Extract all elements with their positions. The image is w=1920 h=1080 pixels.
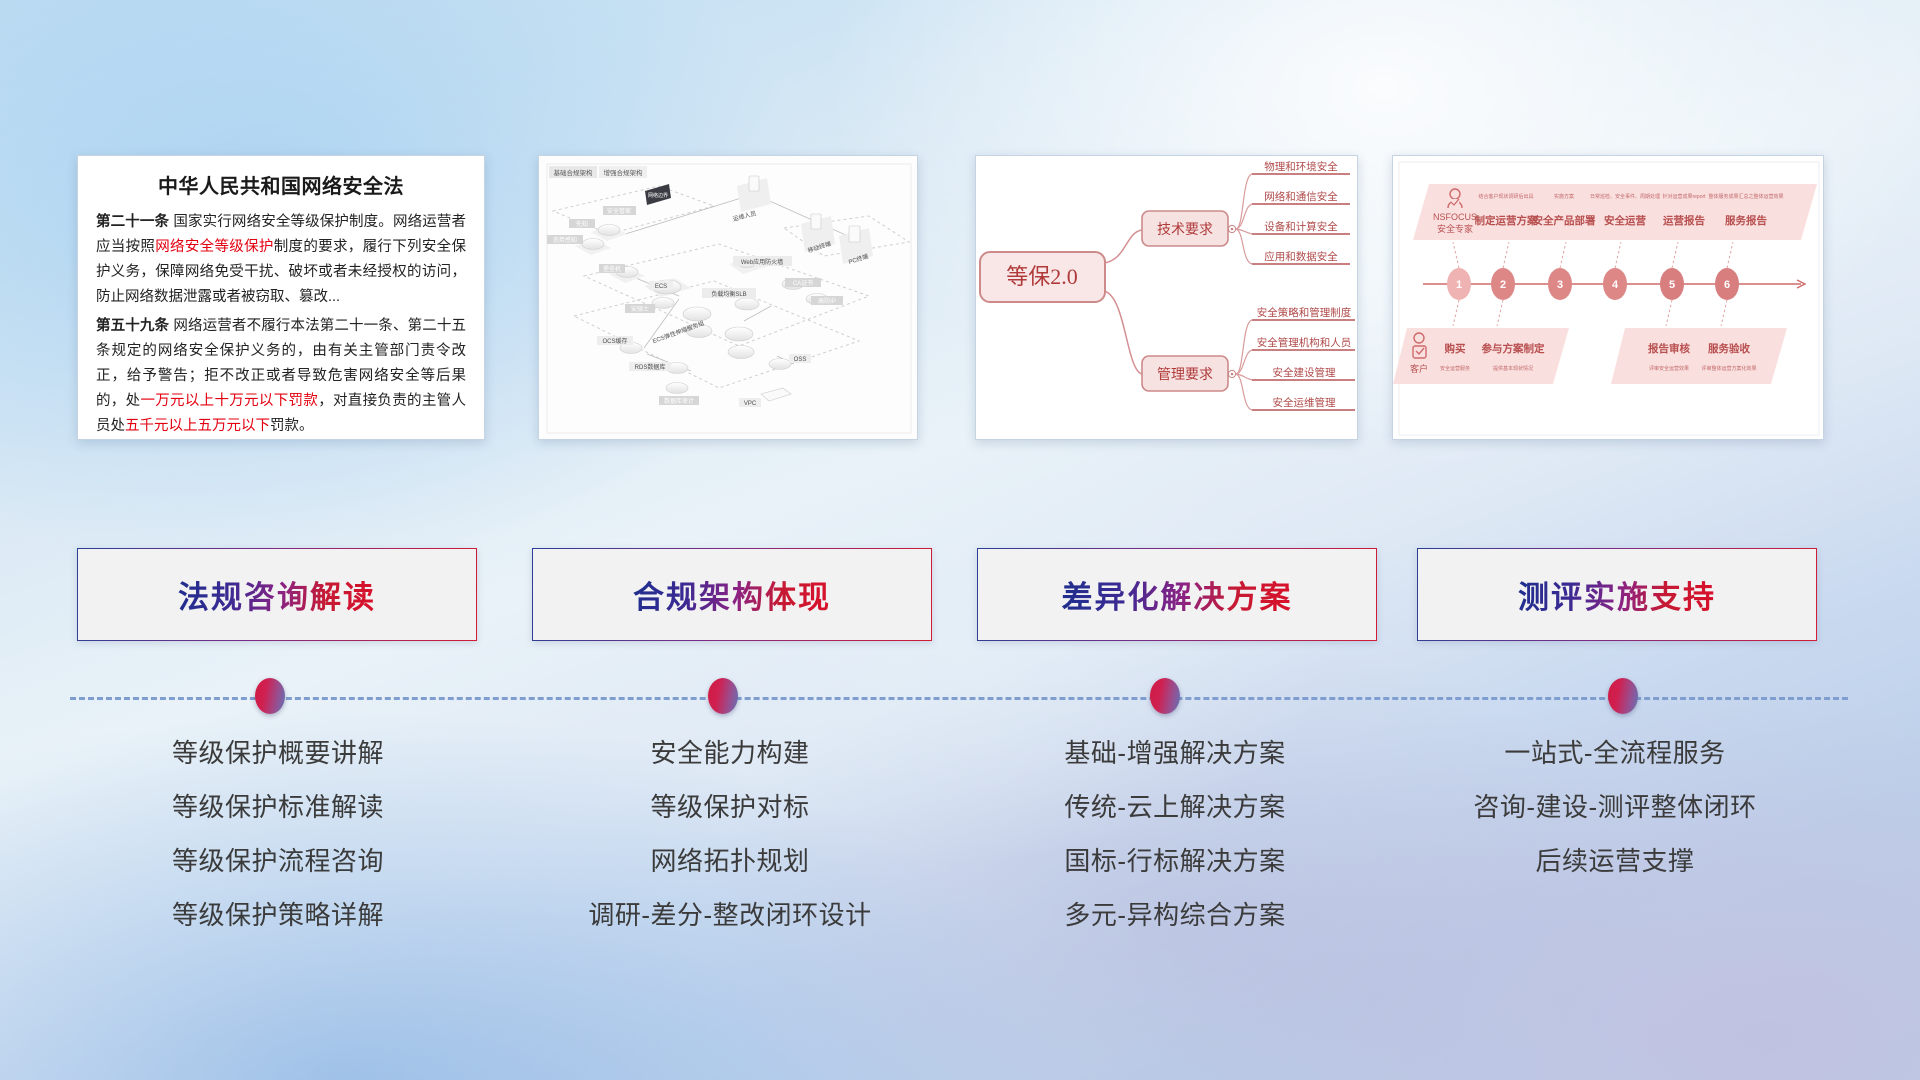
svg-text:高防IP: 高防IP	[818, 297, 836, 305]
svg-text:安全管家: 安全管家	[607, 207, 631, 215]
svg-text:VPC: VPC	[744, 401, 757, 407]
svg-text:制定运营方案: 制定运营方案	[1475, 214, 1538, 227]
svg-text:评审安全运营效果: 评审安全运营效果	[1649, 365, 1689, 372]
detail-column-2: 安全能力构建 等级保护对标 网络拓扑规划 调研-差分-整改闭环设计	[520, 740, 940, 956]
svg-text:网络边界: 网络边界	[648, 192, 668, 199]
svg-text:安全运营: 安全运营	[1604, 214, 1646, 227]
law-paragraph-21: 第二十一条 国家实行网络安全等级保护制度。网络运营者应当按照网络安全等级保护制度…	[96, 210, 466, 310]
svg-text:NSFOCUS: NSFOCUS	[1433, 212, 1477, 222]
section-label-3: 差异化解决方案	[1062, 572, 1293, 617]
svg-text:2: 2	[1500, 279, 1506, 291]
timeline-dot-4	[1608, 678, 1638, 714]
svg-text:1: 1	[1456, 279, 1462, 291]
law-title: 中华人民共和国网络安全法	[96, 170, 466, 199]
svg-text:物理和环境安全: 物理和环境安全	[1264, 160, 1338, 173]
list-item: 等级保护概要讲解	[68, 740, 488, 766]
svg-text:负载均衡SLB: 负载均衡SLB	[711, 290, 746, 298]
svg-text:基础合规架构: 基础合规架构	[554, 168, 594, 177]
svg-text:OCS缓存: OCS缓存	[602, 337, 627, 345]
mindmap-svg: 等保2.0 技术要求 物理	[976, 156, 1358, 440]
timeline-dot-2	[708, 678, 738, 714]
law-run: 罚款。	[270, 418, 314, 434]
svg-text:结合客户现状调研后出具: 结合客户现状调研后出具	[1478, 193, 1533, 200]
svg-text:实施方案: 实施方案	[1554, 193, 1574, 200]
section-label-4: 测评实施支持	[1518, 572, 1716, 617]
svg-text:先知: 先知	[576, 220, 588, 228]
section-box-1[interactable]: 法规咨询解读	[77, 548, 477, 641]
section-label-1: 法规咨询解读	[178, 572, 376, 617]
law-run-highlight: 五千元以上五万元以下	[125, 418, 270, 434]
nsfocus-svg: NSFOCUS 安全专家 客户	[1393, 156, 1824, 440]
list-item: 调研-差分-整改闭环设计	[520, 902, 940, 928]
svg-text:参与方案制定: 参与方案制定	[1482, 342, 1545, 355]
svg-text:3: 3	[1557, 279, 1563, 291]
nsfocus-timeline-diagram: NSFOCUS 安全专家 客户	[1393, 156, 1823, 439]
detail-column-4: 一站式-全流程服务 咨询-建设-测评整体闭环 后续运营支撑	[1405, 740, 1825, 902]
law-article-number: 第二十一条	[96, 214, 169, 230]
law-content: 中华人民共和国网络安全法 第二十一条 国家实行网络安全等级保护制度。网络运营者应…	[78, 156, 484, 440]
law-run-highlight: 一万元以上十万元以下罚款	[140, 393, 318, 409]
svg-text:管理要求: 管理要求	[1157, 367, 1213, 383]
list-item: 咨询-建设-测评整体闭环	[1405, 794, 1825, 820]
svg-text:安全建设管理: 安全建设管理	[1273, 366, 1336, 379]
section-label-2: 合规架构体现	[633, 572, 831, 617]
section-box-2[interactable]: 合规架构体现	[532, 548, 932, 641]
list-item: 网络拓扑规划	[520, 848, 940, 874]
list-item: 国标-行标解决方案	[965, 848, 1385, 874]
svg-text:运营报告: 运营报告	[1663, 214, 1705, 227]
timeline-dot-1	[255, 678, 285, 714]
svg-text:客户: 客户	[1410, 363, 1428, 374]
list-item: 多元-异构综合方案	[965, 902, 1385, 928]
section-box-3[interactable]: 差异化解决方案	[977, 548, 1377, 641]
svg-text:ECS: ECS	[655, 284, 667, 290]
detail-column-1: 等级保护概要讲解 等级保护标准解读 等级保护流程咨询 等级保护策略详解	[68, 740, 488, 956]
svg-text:态势感知: 态势感知	[553, 236, 577, 244]
timeline-dashed-line	[70, 697, 1848, 700]
law-run-highlight: 网络安全等级保护	[155, 239, 274, 255]
svg-text:安全运维管理: 安全运维管理	[1273, 396, 1336, 409]
list-item: 传统-云上解决方案	[965, 794, 1385, 820]
list-item: 等级保护策略详解	[68, 902, 488, 928]
thumbnail-card-law[interactable]: 中华人民共和国网络安全法 第二十一条 国家实行网络安全等级保护制度。网络运营者应…	[77, 155, 485, 440]
svg-text:6: 6	[1724, 279, 1730, 291]
svg-text:网络和通信安全: 网络和通信安全	[1264, 190, 1338, 203]
svg-text:服务验收: 服务验收	[1708, 342, 1750, 355]
svg-text:服务报告: 服务报告	[1725, 214, 1767, 227]
thumbnail-card-nsfocus[interactable]: NSFOCUS 安全专家 客户	[1392, 155, 1824, 440]
svg-text:OSS: OSS	[794, 357, 807, 363]
mindmap-diagram: 等保2.0 技术要求 物理	[976, 156, 1357, 439]
list-item: 等级保护流程咨询	[68, 848, 488, 874]
svg-text:应用和数据安全: 应用和数据安全	[1264, 250, 1338, 263]
thumbnail-card-architecture[interactable]: 基础合规架构 增强合规架构 网络边界	[538, 155, 918, 440]
svg-text:堡垒机: 堡垒机	[603, 265, 621, 273]
svg-text:Web应用防火墙: Web应用防火墙	[741, 258, 783, 266]
svg-text:报告审核: 报告审核	[1648, 342, 1690, 355]
svg-text:增强合规架构: 增强合规架构	[604, 168, 644, 177]
svg-text:等保2.0: 等保2.0	[1006, 264, 1078, 289]
list-item: 基础-增强解决方案	[965, 740, 1385, 766]
list-item: 一站式-全流程服务	[1405, 740, 1825, 766]
svg-text:RDS数据库: RDS数据库	[635, 363, 666, 371]
svg-text:CA证书: CA证书	[793, 279, 813, 287]
list-item: 后续运营支撑	[1405, 848, 1825, 874]
svg-text:4: 4	[1612, 279, 1619, 291]
section-box-4[interactable]: 测评实施支持	[1417, 548, 1817, 641]
svg-text:评审整体运营方案化效果: 评审整体运营方案化效果	[1701, 365, 1756, 372]
svg-text:安骑士: 安骑士	[631, 305, 649, 313]
svg-text:安全运营服务: 安全运营服务	[1440, 365, 1470, 372]
thumbnail-card-mindmap[interactable]: 等保2.0 技术要求 物理	[975, 155, 1358, 440]
svg-text:5: 5	[1669, 279, 1675, 291]
law-paragraph-59: 第五十九条 网络运营者不履行本法第二十一条、第二十五条规定的网络安全保护义务的，…	[96, 314, 466, 439]
detail-column-3: 基础-增强解决方案 传统-云上解决方案 国标-行标解决方案 多元-异构综合方案	[965, 740, 1385, 956]
architecture-diagram: 基础合规架构 增强合规架构 网络边界	[539, 156, 917, 439]
list-item: 等级保护对标	[520, 794, 940, 820]
svg-text:提供基本现状情况: 提供基本现状情况	[1493, 365, 1533, 372]
timeline-dot-3	[1150, 678, 1180, 714]
svg-text:安全专家: 安全专家	[1437, 223, 1473, 234]
svg-text:整体服务成果汇总之整体运营效果: 整体服务成果汇总之整体运营效果	[1708, 193, 1783, 200]
svg-text:安全产品部署: 安全产品部署	[1533, 214, 1596, 227]
law-article-number: 第五十九条	[96, 318, 169, 334]
svg-text:技术要求: 技术要求	[1157, 222, 1213, 238]
svg-text:购买: 购买	[1445, 342, 1467, 355]
list-item: 安全能力构建	[520, 740, 940, 766]
list-item: 等级保护标准解读	[68, 794, 488, 820]
svg-text:设备和计算安全: 设备和计算安全	[1264, 220, 1338, 233]
svg-text:安全策略和管理制度: 安全策略和管理制度	[1257, 306, 1352, 319]
architecture-svg: 基础合规架构 增强合规架构 网络边界	[539, 156, 918, 440]
svg-text:数据库审计: 数据库审计	[664, 397, 694, 405]
svg-text:针对运营成果report: 针对运营成果report	[1662, 193, 1706, 200]
svg-text:安全管理机构和人员: 安全管理机构和人员	[1257, 336, 1352, 349]
svg-text:日常巡检、安全事件、周期处理: 日常巡检、安全事件、周期处理	[1590, 193, 1660, 200]
